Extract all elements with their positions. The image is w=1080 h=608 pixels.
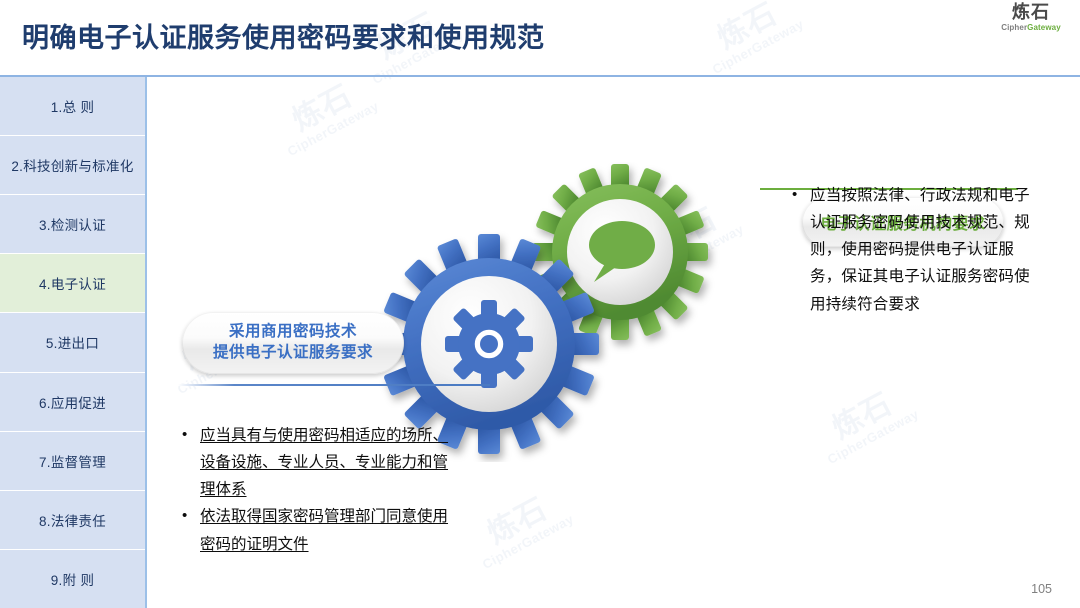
brand-logo-en-2: Gateway xyxy=(1027,23,1061,32)
brand-logo-en-1: Cipher xyxy=(1001,23,1027,32)
settings-gear-icon xyxy=(445,300,533,388)
sidebar-item-5[interactable]: 5.进出口 xyxy=(0,313,145,372)
bullets-left: • 应当具有与使用密码相适应的场所、设备设施、专业人员、专业能力和管理体系 • … xyxy=(182,422,457,558)
bullet-marker-icon: • xyxy=(182,422,200,448)
callout-blue-line2: 提供电子认证服务要求 xyxy=(213,343,373,364)
sidebar-item-label: 7.监督管理 xyxy=(39,451,106,471)
list-item: • 应当按照法律、行政法规和电子认证服务密码使用技术规范、规则，使用密码提供电子… xyxy=(792,182,1042,318)
sidebar-item-label: 9.附 则 xyxy=(51,569,95,589)
sidebar-item-label: 5.进出口 xyxy=(46,332,99,352)
sidebar-item-8[interactable]: 8.法律责任 xyxy=(0,491,145,550)
sidebar-item-6[interactable]: 6.应用促进 xyxy=(0,373,145,432)
sidebar-item-label: 1.总 则 xyxy=(51,96,95,116)
page-number: 105 xyxy=(1031,582,1052,596)
sidebar-item-label: 4.电子认证 xyxy=(39,273,106,293)
slide-body: 电子认证服务机构要求 • 应当按照法律、行政法规和电子认证服务密码使用技术规范、… xyxy=(147,77,1080,608)
bullet-marker-icon: • xyxy=(792,182,810,208)
brand-logo: 炼石 CipherGateway xyxy=(994,3,1068,32)
bullets-right: • 应当按照法律、行政法规和电子认证服务密码使用技术规范、规则，使用密码提供电子… xyxy=(792,182,1042,318)
sidebar-nav: 1.总 则 2.科技创新与标准化 3.检测认证 4.电子认证 5.进出口 6.应… xyxy=(0,77,145,608)
sidebar-item-label: 8.法律责任 xyxy=(39,510,106,530)
header-divider xyxy=(0,75,1080,77)
sidebar-item-1[interactable]: 1.总 则 xyxy=(0,77,145,136)
bullet-text: 应当按照法律、行政法规和电子认证服务密码使用技术规范、规则，使用密码提供电子认证… xyxy=(810,182,1042,318)
list-item: • 依法取得国家密码管理部门同意使用密码的证明文件 xyxy=(182,503,457,557)
brand-logo-en: CipherGateway xyxy=(994,24,1068,32)
sidebar-item-label: 6.应用促进 xyxy=(39,392,106,412)
slide-header: 明确电子认证服务使用密码要求和使用规范 炼石 CipherGateway xyxy=(0,0,1080,75)
gears-illustration xyxy=(352,162,732,462)
brand-logo-cn: 炼石 xyxy=(994,3,1068,21)
sidebar-item-label: 2.科技创新与标准化 xyxy=(11,155,133,175)
bullet-text: 应当具有与使用密码相适应的场所、设备设施、专业人员、专业能力和管理体系 xyxy=(200,422,457,503)
list-item: • 应当具有与使用密码相适应的场所、设备设施、专业人员、专业能力和管理体系 xyxy=(182,422,457,503)
sidebar-item-3[interactable]: 3.检测认证 xyxy=(0,195,145,254)
sidebar-item-label: 3.检测认证 xyxy=(39,214,106,234)
sidebar-item-9[interactable]: 9.附 则 xyxy=(0,550,145,608)
callout-blue-line1: 采用商用密码技术 xyxy=(229,322,357,343)
bullet-text: 依法取得国家密码管理部门同意使用密码的证明文件 xyxy=(200,503,457,557)
page-title: 明确电子认证服务使用密码要求和使用规范 xyxy=(22,16,545,55)
sidebar-item-7[interactable]: 7.监督管理 xyxy=(0,432,145,491)
sidebar-divider xyxy=(145,77,147,608)
blue-gear xyxy=(379,234,599,454)
bullet-marker-icon: • xyxy=(182,503,200,529)
callout-blue[interactable]: 采用商用密码技术 提供电子认证服务要求 xyxy=(182,312,404,374)
blue-accent-rule xyxy=(178,384,490,386)
sidebar-item-2[interactable]: 2.科技创新与标准化 xyxy=(0,136,145,195)
sidebar-item-4-active[interactable]: 4.电子认证 xyxy=(0,254,145,313)
